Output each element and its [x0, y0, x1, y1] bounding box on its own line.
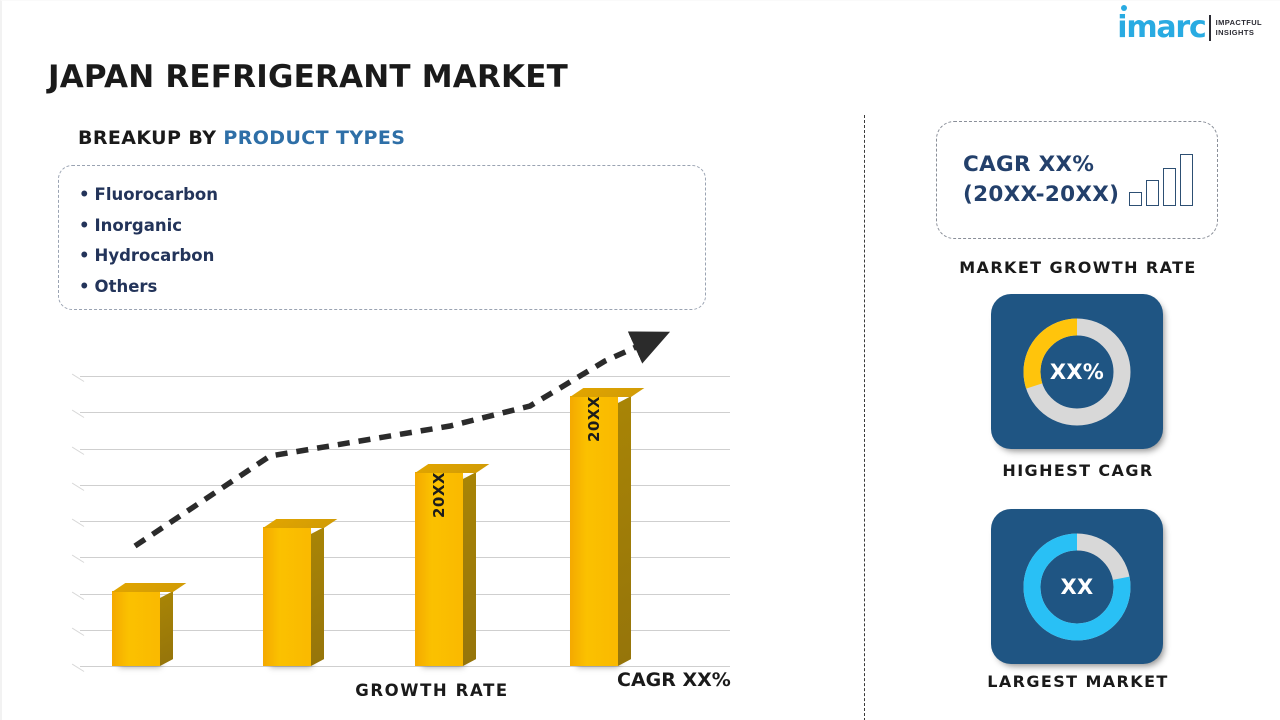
- chart-bar-top: [112, 583, 186, 592]
- infographic-page: imarc IMPACTFUL INSIGHTS JAPAN REFRIGERA…: [0, 0, 1280, 720]
- chart-bar-top: [263, 519, 337, 528]
- market-growth-rate-caption: MARKET GROWTH RATE: [928, 258, 1228, 277]
- list-item-label: Hydrocarbon: [95, 246, 215, 265]
- highest-cagr-card: XX%: [991, 294, 1163, 449]
- logo-word-text: imarc: [1117, 10, 1205, 45]
- chart-bar: 20XX: [415, 472, 463, 666]
- market-growth-rate-box: CAGR XX% (20XX-20XX): [936, 121, 1218, 239]
- mini-bar: [1180, 154, 1193, 206]
- subtitle-prefix: BREAKUP BY: [78, 127, 223, 149]
- list-item: •Others: [79, 272, 705, 303]
- list-item-label: Inorganic: [95, 216, 183, 235]
- chart-gridline: [80, 521, 730, 522]
- chart-gridline-depth: [72, 664, 84, 672]
- chart-plot-area: 20XX20XX: [70, 376, 730, 666]
- subtitle-accent: PRODUCT TYPES: [223, 127, 405, 149]
- chart-gridline: [80, 594, 730, 595]
- chart-bar: [263, 527, 311, 666]
- chart-bar-label: 20XX: [430, 472, 448, 518]
- logo-tagline-line2: INSIGHTS: [1216, 28, 1262, 38]
- chart-bar: [112, 591, 160, 666]
- chart-cagr-annotation: CAGR XX%: [617, 669, 731, 691]
- chart-bar-side: [618, 396, 631, 666]
- list-item: •Fluorocarbon: [79, 180, 705, 211]
- chart-x-axis-label: GROWTH RATE: [292, 681, 572, 700]
- mini-bar: [1163, 168, 1176, 206]
- chart-gridline-depth: [72, 555, 84, 563]
- page-title: JAPAN REFRIGERANT MARKET: [48, 59, 568, 95]
- list-item: •Hydrocarbon: [79, 241, 705, 272]
- chart-bar-top: [570, 388, 644, 397]
- mini-bar: [1146, 180, 1159, 206]
- chart-bar-side: [463, 472, 476, 666]
- chart-bar: 20XX: [570, 396, 618, 666]
- cagr-line2: (20XX-20XX): [963, 180, 1119, 210]
- chart-gridline: [80, 666, 730, 667]
- chart-gridline-depth: [72, 592, 84, 600]
- chart-bar-top: [415, 464, 489, 473]
- chart-gridline-depth: [72, 628, 84, 636]
- growth-rate-bar-chart: 20XX20XX CAGR XX%: [60, 331, 760, 676]
- largest-market-card: XX: [991, 509, 1163, 664]
- mini-bar: [1129, 192, 1142, 206]
- bar-chart-icon: [1129, 154, 1193, 206]
- list-item-label: Others: [95, 277, 158, 296]
- bullet-icon: •: [79, 246, 90, 265]
- chart-gridline: [80, 412, 730, 413]
- logo-divider: [1209, 15, 1211, 41]
- list-item: •Inorganic: [79, 211, 705, 242]
- logo-tagline-line1: IMPACTFUL: [1216, 18, 1262, 28]
- chart-gridline: [80, 630, 730, 631]
- chart-gridline: [80, 449, 730, 450]
- chart-gridline-depth: [72, 519, 84, 527]
- chart-bar-side: [160, 591, 173, 666]
- bullet-icon: •: [79, 216, 90, 235]
- panel-divider: [864, 115, 865, 720]
- chart-gridline-depth: [72, 410, 84, 418]
- chart-gridline-depth: [72, 374, 84, 382]
- chart-gridline: [80, 485, 730, 486]
- bullet-icon: •: [79, 277, 90, 296]
- largest-market-value: XX: [1061, 575, 1094, 599]
- list-item-label: Fluorocarbon: [95, 185, 218, 204]
- imarc-logo: imarc IMPACTFUL INSIGHTS: [1117, 13, 1262, 43]
- logo-wordmark: imarc: [1117, 13, 1205, 43]
- chart-bar-side: [311, 527, 324, 666]
- chart-gridline-depth: [72, 483, 84, 491]
- logo-tagline: IMPACTFUL INSIGHTS: [1216, 18, 1262, 38]
- product-types-box: •Fluorocarbon •Inorganic •Hydrocarbon •O…: [58, 165, 706, 310]
- cagr-text: CAGR XX% (20XX-20XX): [963, 150, 1119, 210]
- cagr-line1: CAGR XX%: [963, 150, 1119, 180]
- chart-gridline-depth: [72, 447, 84, 455]
- page-subtitle: BREAKUP BY PRODUCT TYPES: [78, 127, 405, 149]
- chart-gridline: [80, 376, 730, 377]
- chart-bar-label: 20XX: [585, 396, 603, 442]
- highest-cagr-value: XX%: [1050, 360, 1104, 384]
- highest-cagr-caption: HIGHEST CAGR: [928, 461, 1228, 480]
- chart-gridline: [80, 557, 730, 558]
- bullet-icon: •: [79, 185, 90, 204]
- largest-market-caption: LARGEST MARKET: [928, 672, 1228, 691]
